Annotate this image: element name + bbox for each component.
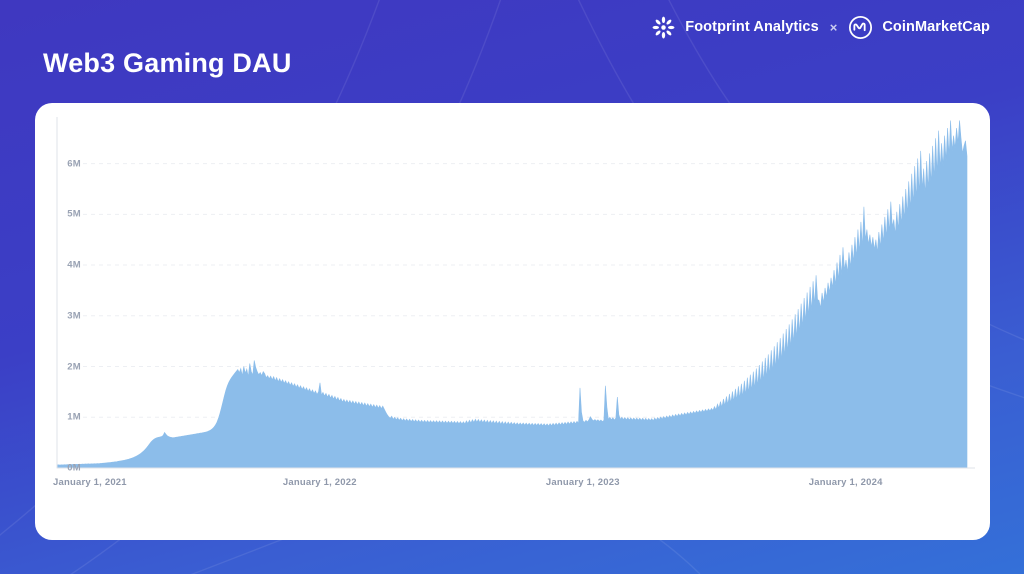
header-brand-bar: Footprint Analytics × CoinMarketCap <box>651 13 990 41</box>
brand-footprint-analytics[interactable]: Footprint Analytics <box>651 15 818 40</box>
x-tick-label: January 1, 2021 <box>53 477 127 488</box>
chart-card: 0M1M2M3M4M5M6M January 1, 2021January 1,… <box>35 103 990 540</box>
coinmarketcap-circle-m-icon <box>848 15 873 40</box>
page-title: Web3 Gaming DAU <box>43 48 292 79</box>
y-tick-label: 3M <box>67 310 81 321</box>
brand-coinmarketcap[interactable]: CoinMarketCap <box>848 15 990 40</box>
chart-plot-svg <box>35 103 990 540</box>
brand-footprint-label: Footprint Analytics <box>685 19 818 35</box>
slide-canvas: Footprint Analytics × CoinMarketCap Web3… <box>0 0 1024 574</box>
y-tick-label: 6M <box>67 158 81 169</box>
brand-coinmarketcap-label: CoinMarketCap <box>882 19 990 35</box>
dau-area-chart[interactable]: 0M1M2M3M4M5M6M January 1, 2021January 1,… <box>35 103 990 540</box>
y-tick-label: 2M <box>67 361 81 372</box>
y-tick-label: 0M <box>67 463 81 474</box>
y-tick-label: 4M <box>67 260 81 271</box>
x-tick-label: January 1, 2022 <box>283 477 357 488</box>
y-tick-label: 5M <box>67 209 81 220</box>
x-tick-label: January 1, 2024 <box>809 477 883 488</box>
brand-separator-x: × <box>830 20 838 35</box>
dau-area-series <box>57 120 967 468</box>
y-tick-label: 1M <box>67 412 81 423</box>
x-tick-label: January 1, 2023 <box>546 477 620 488</box>
footprint-starburst-icon <box>651 15 676 40</box>
